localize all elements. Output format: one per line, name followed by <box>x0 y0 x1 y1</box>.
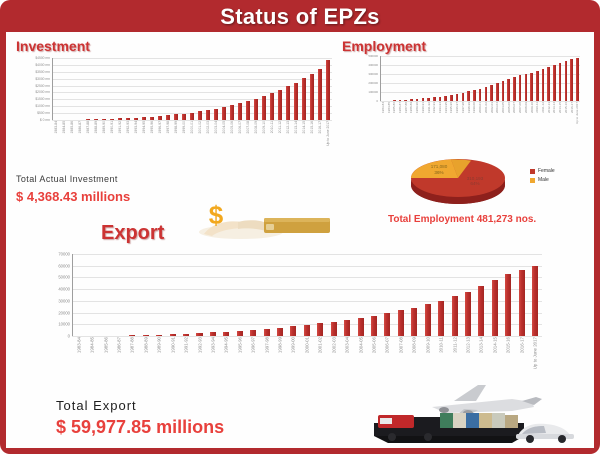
bar <box>264 329 270 336</box>
bar <box>425 304 431 336</box>
bar <box>277 328 283 336</box>
bar-item <box>220 254 233 336</box>
bar-item <box>179 254 192 336</box>
bar <box>502 81 505 101</box>
bar-item <box>140 58 148 120</box>
export-total-value: $ 59,977.85 millions <box>56 417 224 438</box>
x-axis-tick-label: 1997-98 <box>264 337 269 353</box>
x-axis-tick-label: 1988-89 <box>94 121 98 133</box>
x-axis-tick-label: 1983-84 <box>381 102 385 113</box>
legend-item-male: Male <box>530 177 555 183</box>
bar-item <box>233 254 246 336</box>
export-bar-chart: 7000060000500004000030000200001000001983… <box>72 254 542 336</box>
bar-item <box>76 58 84 120</box>
x-axis-tick-label: 1998-99 <box>278 337 283 353</box>
bar-item <box>148 58 156 120</box>
x-axis-tick: 2015-16 <box>308 120 316 146</box>
x-axis-tick-label: 2002-03 <box>490 102 494 113</box>
bar-item <box>260 58 268 120</box>
x-axis-tick: 1984-85 <box>60 120 68 146</box>
x-axis-tick-label: 2013-14 <box>552 102 556 113</box>
x-axis-tick-label: 1985-86 <box>392 102 396 113</box>
bar <box>214 109 218 120</box>
x-axis-tick-label: 2001-02 <box>484 102 488 113</box>
x-axis-tick: 1991-92 <box>116 120 124 146</box>
x-axis-labels: 1983-841984-851985-861986-871987-881988-… <box>72 336 542 362</box>
bar-item <box>276 58 284 120</box>
bar-item <box>193 254 206 336</box>
legend-label-male: Male <box>538 177 549 183</box>
x-axis-tick-label: 1998-99 <box>174 121 178 133</box>
x-axis-tick: 2007-08 <box>394 336 407 362</box>
bar <box>496 83 499 101</box>
bar-item <box>300 58 308 120</box>
bar <box>467 91 470 101</box>
bar-item <box>421 254 434 336</box>
y-axis-tick-label: 10000 <box>58 322 70 327</box>
x-axis-tick: 2005-06 <box>367 336 380 362</box>
x-axis-tick-label: 2004-05 <box>501 102 505 113</box>
x-axis-tick: 1997-98 <box>164 120 172 146</box>
bar-item <box>408 254 421 336</box>
x-axis-tick: 1988-89 <box>92 120 100 146</box>
bar-series <box>380 56 580 101</box>
x-axis-tick: 1983-84 <box>52 120 60 146</box>
x-axis-tick: 2008-09 <box>408 336 421 362</box>
x-axis-tick: 1987-88 <box>84 120 92 146</box>
x-axis-tick: 1989-90 <box>153 336 166 362</box>
y-axis-tick-label: $ 0 mn <box>40 118 50 122</box>
bar-item <box>112 254 125 336</box>
bar-item <box>502 254 515 336</box>
y-axis-tick-label: 0 <box>376 99 378 103</box>
y-axis-tick-label: $3500 mn <box>35 70 50 74</box>
bar-item <box>308 58 316 120</box>
bar-item <box>515 254 528 336</box>
x-axis-tick: 1998-99 <box>273 336 286 362</box>
x-axis-tick-label: 2010-11 <box>535 102 539 113</box>
bar-item <box>204 58 212 120</box>
x-axis-tick-label: 1983-84 <box>76 337 81 353</box>
investment-bar-chart: $4500 mn$4000 mn$3500 mn$3000 mn$2500 mn… <box>52 58 332 120</box>
bar <box>254 99 258 120</box>
x-axis-tick-label: 1988-89 <box>143 337 148 353</box>
x-axis-tick: 1993-94 <box>206 336 219 362</box>
bar-item <box>287 254 300 336</box>
x-axis-tick-label: 1989-90 <box>157 337 162 353</box>
bar-item <box>340 254 353 336</box>
x-axis-tick-label: 2002-03 <box>331 337 336 353</box>
bar <box>456 94 459 101</box>
bar-item <box>166 254 179 336</box>
x-axis-tick-label: 1990-91 <box>421 102 425 113</box>
x-axis-tick-label: 1990-91 <box>110 121 114 133</box>
x-axis-tick-label: 1986-87 <box>78 121 82 133</box>
bar <box>294 83 298 120</box>
x-axis-tick-label: 2009-10 <box>425 337 430 353</box>
x-axis-tick-label: 1992-93 <box>197 337 202 353</box>
investment-total: Total Actual Investment $ 4,368.43 milli… <box>16 174 130 204</box>
x-axis-tick: 2015-16 <box>502 336 515 362</box>
bar <box>542 69 545 101</box>
legend-swatch-female <box>530 169 535 174</box>
investment-total-value: $ 4,368.43 millions <box>16 189 130 204</box>
bar-item <box>132 58 140 120</box>
bar-item <box>52 58 60 120</box>
x-axis-tick: 1992-93 <box>193 336 206 362</box>
bar <box>559 63 562 101</box>
x-axis-tick-label: 1997-98 <box>461 102 465 113</box>
x-axis-tick-label: 1994-95 <box>142 121 146 133</box>
x-axis-tick-label: 1988-89 <box>409 102 413 113</box>
x-axis-tick: 2002-03 <box>327 336 340 362</box>
investment-plot-area: $4500 mn$4000 mn$3500 mn$3000 mn$2500 mn… <box>52 58 332 120</box>
y-axis-tick-label: 50000 <box>58 275 70 280</box>
x-axis-tick-label: 1992-93 <box>432 102 436 113</box>
x-axis-tick-label: 1987-88 <box>404 102 408 113</box>
x-axis-tick: 1991-92 <box>179 336 192 362</box>
bar-item <box>381 254 394 336</box>
x-axis-tick-label: 1989-90 <box>415 102 419 113</box>
bar-item <box>273 254 286 336</box>
x-axis-tick: 1994-95 <box>220 336 233 362</box>
page-title: Status of EPZs <box>220 4 379 30</box>
x-axis-tick-label: 1993-94 <box>210 337 215 353</box>
bar-item <box>172 58 180 120</box>
x-axis-tick: Up to June 2017 <box>324 120 332 146</box>
bar-item <box>116 58 124 120</box>
bar-item <box>528 254 541 336</box>
legend-swatch-male <box>530 178 535 183</box>
x-axis-tick-label: 1996-97 <box>251 337 256 353</box>
x-axis-tick-label: 1984-85 <box>90 337 95 353</box>
y-axis-tick-label: $2000 mn <box>35 90 50 94</box>
x-axis-tick-label: 1989-90 <box>102 121 106 133</box>
bar <box>462 93 465 101</box>
bar-series <box>52 58 332 120</box>
x-axis-tick: 1989-90 <box>100 120 108 146</box>
x-axis-labels: 1983-841984-851985-861986-871987-881988-… <box>52 120 332 146</box>
bar-item <box>164 58 172 120</box>
x-axis-tick-label: 1985-86 <box>103 337 108 353</box>
bar-item <box>434 254 447 336</box>
x-axis-tick-label: 1996-97 <box>455 102 459 113</box>
x-axis-tick-label: 2011-12 <box>278 121 282 133</box>
section-title-investment: Investment <box>16 38 90 54</box>
y-axis-tick-label: 400000 <box>368 63 378 67</box>
dollar-hand-icon: $ <box>186 198 336 244</box>
bar-item <box>212 58 220 120</box>
x-axis-tick: 2004-05 <box>220 120 228 146</box>
x-axis-tick: 2012-13 <box>461 336 474 362</box>
x-axis-tick-label: 2015-16 <box>310 121 314 133</box>
investment-total-label: Total Actual Investment <box>16 174 130 184</box>
x-axis-tick-label: 1999-00 <box>182 121 186 133</box>
y-axis-tick-label: 40000 <box>58 287 70 292</box>
x-axis-tick-label: 2012-13 <box>547 102 551 113</box>
x-axis-tick: 2001-02 <box>196 120 204 146</box>
x-axis-tick-label: 1995-96 <box>150 121 154 133</box>
bar-item <box>60 58 68 120</box>
bar <box>485 87 488 101</box>
bar-item <box>100 58 108 120</box>
bar <box>532 266 538 336</box>
export-total-label: Total Export <box>56 398 224 413</box>
employment-gender-pie-chart: 171,080 36% 310,193 64% <box>391 152 526 207</box>
bar <box>478 286 484 336</box>
x-axis-tick-label: 2007-08 <box>398 337 403 353</box>
bar-item <box>92 58 100 120</box>
y-axis-tick-label: 200000 <box>368 81 378 85</box>
x-axis-tick-label: 1987-88 <box>86 121 90 133</box>
x-axis-tick-label: 2008-09 <box>524 102 528 113</box>
bar <box>278 90 282 120</box>
bar <box>286 86 290 120</box>
x-axis-tick-label: 1986-87 <box>116 337 121 353</box>
x-axis-tick-label: 2000-01 <box>190 121 194 133</box>
x-axis-tick-label: 2003-04 <box>495 102 499 113</box>
svg-text:171,080: 171,080 <box>431 164 448 169</box>
bar-item <box>260 254 273 336</box>
bar <box>452 296 458 336</box>
bar-item <box>292 58 300 120</box>
legend-item-female: Female <box>530 168 555 174</box>
x-axis-tick-label: Up to June 2017 <box>533 337 538 369</box>
y-axis-tick-label: $4500 mn <box>35 56 50 60</box>
pie-legend: Female Male <box>530 168 555 186</box>
bar-item <box>268 58 276 120</box>
x-axis-tick-label: 2016-17 <box>318 121 322 133</box>
x-axis-tick: 1996-97 <box>246 336 259 362</box>
x-axis-tick: 2007-08 <box>244 120 252 146</box>
x-axis-tick-label: 2008-09 <box>254 121 258 133</box>
x-axis-tick-label: 2014-15 <box>558 102 562 113</box>
y-axis-tick-label: $1500 mn <box>35 97 50 101</box>
x-axis-tick-label: 1994-95 <box>444 102 448 113</box>
x-axis-tick: 1995-96 <box>233 336 246 362</box>
bar-item <box>206 254 219 336</box>
bar <box>473 90 476 101</box>
x-axis-tick: 2010-11 <box>268 120 276 146</box>
x-axis-tick: 1985-86 <box>68 120 76 146</box>
bar-item <box>367 254 380 336</box>
y-axis-tick-label: 500000 <box>368 54 378 58</box>
x-axis-tick: 2014-15 <box>488 336 501 362</box>
x-axis-tick: Up to June 2017 <box>574 101 580 127</box>
bar <box>547 67 550 101</box>
y-axis-tick-label: $1000 mn <box>35 104 50 108</box>
svg-text:$: $ <box>209 200 224 230</box>
bar <box>384 313 390 336</box>
x-axis-tick-label: 2010-11 <box>270 121 274 133</box>
bar <box>576 58 579 101</box>
x-axis-tick-label: Up to June 2017 <box>326 121 330 146</box>
x-axis-labels: 1983-841984-851985-861986-871987-881988-… <box>380 101 580 127</box>
bar-item <box>72 254 85 336</box>
x-axis-tick: 2010-11 <box>434 336 447 362</box>
x-axis-tick-label: 2000-01 <box>304 337 309 353</box>
y-axis-tick-label: $3000 mn <box>35 77 50 81</box>
x-axis-tick-label: 2003-04 <box>214 121 218 133</box>
employment-total: Total Employment 481,273 nos. <box>388 214 536 225</box>
y-axis-tick-label: $2500 mn <box>35 84 50 88</box>
x-axis-tick-label: 2011-12 <box>541 102 545 113</box>
x-axis-tick-label: 2016-17 <box>570 102 574 113</box>
x-axis-tick-label: 1993-94 <box>134 121 138 133</box>
bar <box>570 59 573 101</box>
bar <box>398 310 404 336</box>
x-axis-tick-label: 2015-16 <box>506 337 511 353</box>
x-axis-tick-label: 2002-03 <box>206 121 210 133</box>
x-axis-tick: 1996-97 <box>156 120 164 146</box>
bar-item <box>124 58 132 120</box>
bar-item <box>300 254 313 336</box>
x-axis-tick: 2006-07 <box>381 336 394 362</box>
bar-item <box>448 254 461 336</box>
bar-item <box>236 58 244 120</box>
bar-item <box>244 58 252 120</box>
bar <box>262 96 266 120</box>
x-axis-tick: 1990-91 <box>108 120 116 146</box>
x-axis-tick: 1992-93 <box>124 120 132 146</box>
bar <box>411 308 417 336</box>
x-axis-tick-label: 2003-04 <box>345 337 350 353</box>
x-axis-tick: 2009-10 <box>421 336 434 362</box>
x-axis-tick-label: 2001-02 <box>318 337 323 353</box>
bar <box>246 101 250 120</box>
x-axis-tick-label: 2007-08 <box>518 102 522 113</box>
x-axis-tick-label: 2009-10 <box>262 121 266 133</box>
y-axis-tick-label: 20000 <box>58 310 70 315</box>
bar-item <box>220 58 228 120</box>
x-axis-tick: 2016-17 <box>316 120 324 146</box>
x-axis-tick-label: 2015-16 <box>564 102 568 113</box>
x-axis-tick: Up to June 2017 <box>528 336 541 362</box>
bar-item <box>228 58 236 120</box>
x-axis-tick-label: 1995-96 <box>237 337 242 353</box>
svg-text:36%: 36% <box>434 170 443 175</box>
bar <box>536 71 539 101</box>
bar-item <box>85 254 98 336</box>
x-axis-tick-label: 1984-85 <box>387 102 391 113</box>
export-plot-area: 7000060000500004000030000200001000001983… <box>72 254 542 336</box>
x-axis-tick: 1990-91 <box>166 336 179 362</box>
bar <box>344 320 350 336</box>
x-axis-tick-label: 2004-05 <box>222 121 226 133</box>
bar <box>479 89 482 101</box>
y-axis-tick-label: 300000 <box>368 72 378 76</box>
bar <box>302 78 306 120</box>
bar-item <box>314 254 327 336</box>
bar <box>505 274 511 336</box>
bar <box>565 61 568 101</box>
x-axis-tick-label: 2000-01 <box>478 102 482 113</box>
bar-item <box>156 58 164 120</box>
x-axis-tick-label: 2016-17 <box>519 337 524 353</box>
x-axis-tick: 2011-12 <box>276 120 284 146</box>
x-axis-tick-label: Up to June 2017 <box>575 102 579 124</box>
x-axis-tick-label: 2004-05 <box>358 337 363 353</box>
y-axis-tick-label: 30000 <box>58 298 70 303</box>
bar <box>304 325 310 336</box>
bar <box>519 75 522 101</box>
x-axis-tick-label: 2011-12 <box>452 337 457 353</box>
bar <box>331 322 337 336</box>
bar <box>530 73 533 101</box>
x-axis-tick-label: 2009-10 <box>530 102 534 113</box>
bar <box>222 107 226 120</box>
x-axis-tick-label: 1999-00 <box>472 102 476 113</box>
x-axis-tick-label: 2014-15 <box>302 121 306 133</box>
x-axis-tick-label: 2008-09 <box>412 337 417 353</box>
x-axis-tick: 1999-00 <box>287 336 300 362</box>
x-axis-tick: 2003-04 <box>340 336 353 362</box>
x-axis-tick-label: 1991-92 <box>427 102 431 113</box>
x-axis-tick-label: 2005-06 <box>230 121 234 133</box>
bar <box>270 93 274 120</box>
bar <box>230 105 234 120</box>
x-axis-tick-label: 1998-99 <box>467 102 471 113</box>
bar-item <box>316 58 324 120</box>
transport-plane-truck-ship-car-icon <box>336 377 600 445</box>
x-axis-tick-label: 2012-13 <box>286 121 290 133</box>
employment-bar-chart: 50000040000030000020000010000001983-8419… <box>380 56 580 101</box>
x-axis-tick: 2009-10 <box>260 120 268 146</box>
bar-item <box>99 254 112 336</box>
x-axis-tick: 1984-85 <box>85 336 98 362</box>
x-axis-tick-label: 1991-92 <box>184 337 189 353</box>
x-axis-tick: 2008-09 <box>252 120 260 146</box>
bar <box>513 77 516 101</box>
bar-item <box>246 254 259 336</box>
x-axis-tick-label: 2006-07 <box>385 337 390 353</box>
x-axis-tick: 2000-01 <box>300 336 313 362</box>
x-axis-tick-label: 1990-91 <box>170 337 175 353</box>
svg-text:64%: 64% <box>470 181 479 186</box>
bar <box>465 292 471 337</box>
x-axis-tick-label: 2007-08 <box>246 121 250 133</box>
x-axis-tick-label: 1983-84 <box>54 121 58 133</box>
bar <box>290 326 296 336</box>
x-axis-tick-label: 2013-14 <box>294 121 298 133</box>
bar-item <box>461 254 474 336</box>
x-axis-tick-label: 2013-14 <box>479 337 484 353</box>
y-axis-tick-label: 100000 <box>368 90 378 94</box>
bar-item <box>139 254 152 336</box>
y-axis-tick-label: $500 mn <box>37 111 50 115</box>
bar <box>198 111 202 120</box>
x-axis-tick-label: 2010-11 <box>439 337 444 353</box>
bar <box>553 65 556 101</box>
x-axis-tick: 1983-84 <box>72 336 85 362</box>
y-axis-tick-label: 60000 <box>58 263 70 268</box>
bar-item <box>354 254 367 336</box>
x-axis-tick-label: 1985-86 <box>70 121 74 133</box>
y-axis-tick-label: 0 <box>68 334 70 339</box>
bar-item <box>68 58 76 120</box>
bar <box>317 323 323 336</box>
x-axis-tick: 2003-04 <box>212 120 220 146</box>
legend-label-female: Female <box>538 168 555 174</box>
employment-plot-area: 50000040000030000020000010000001983-8419… <box>380 56 580 101</box>
x-axis-tick: 2013-14 <box>475 336 488 362</box>
bar-item <box>108 58 116 120</box>
bar <box>206 110 210 120</box>
bar <box>358 318 364 336</box>
x-axis-tick: 2011-12 <box>448 336 461 362</box>
bar <box>519 270 525 336</box>
infographic-poster: Status of EPZs Investment $4500 mn$4000 … <box>0 0 600 454</box>
